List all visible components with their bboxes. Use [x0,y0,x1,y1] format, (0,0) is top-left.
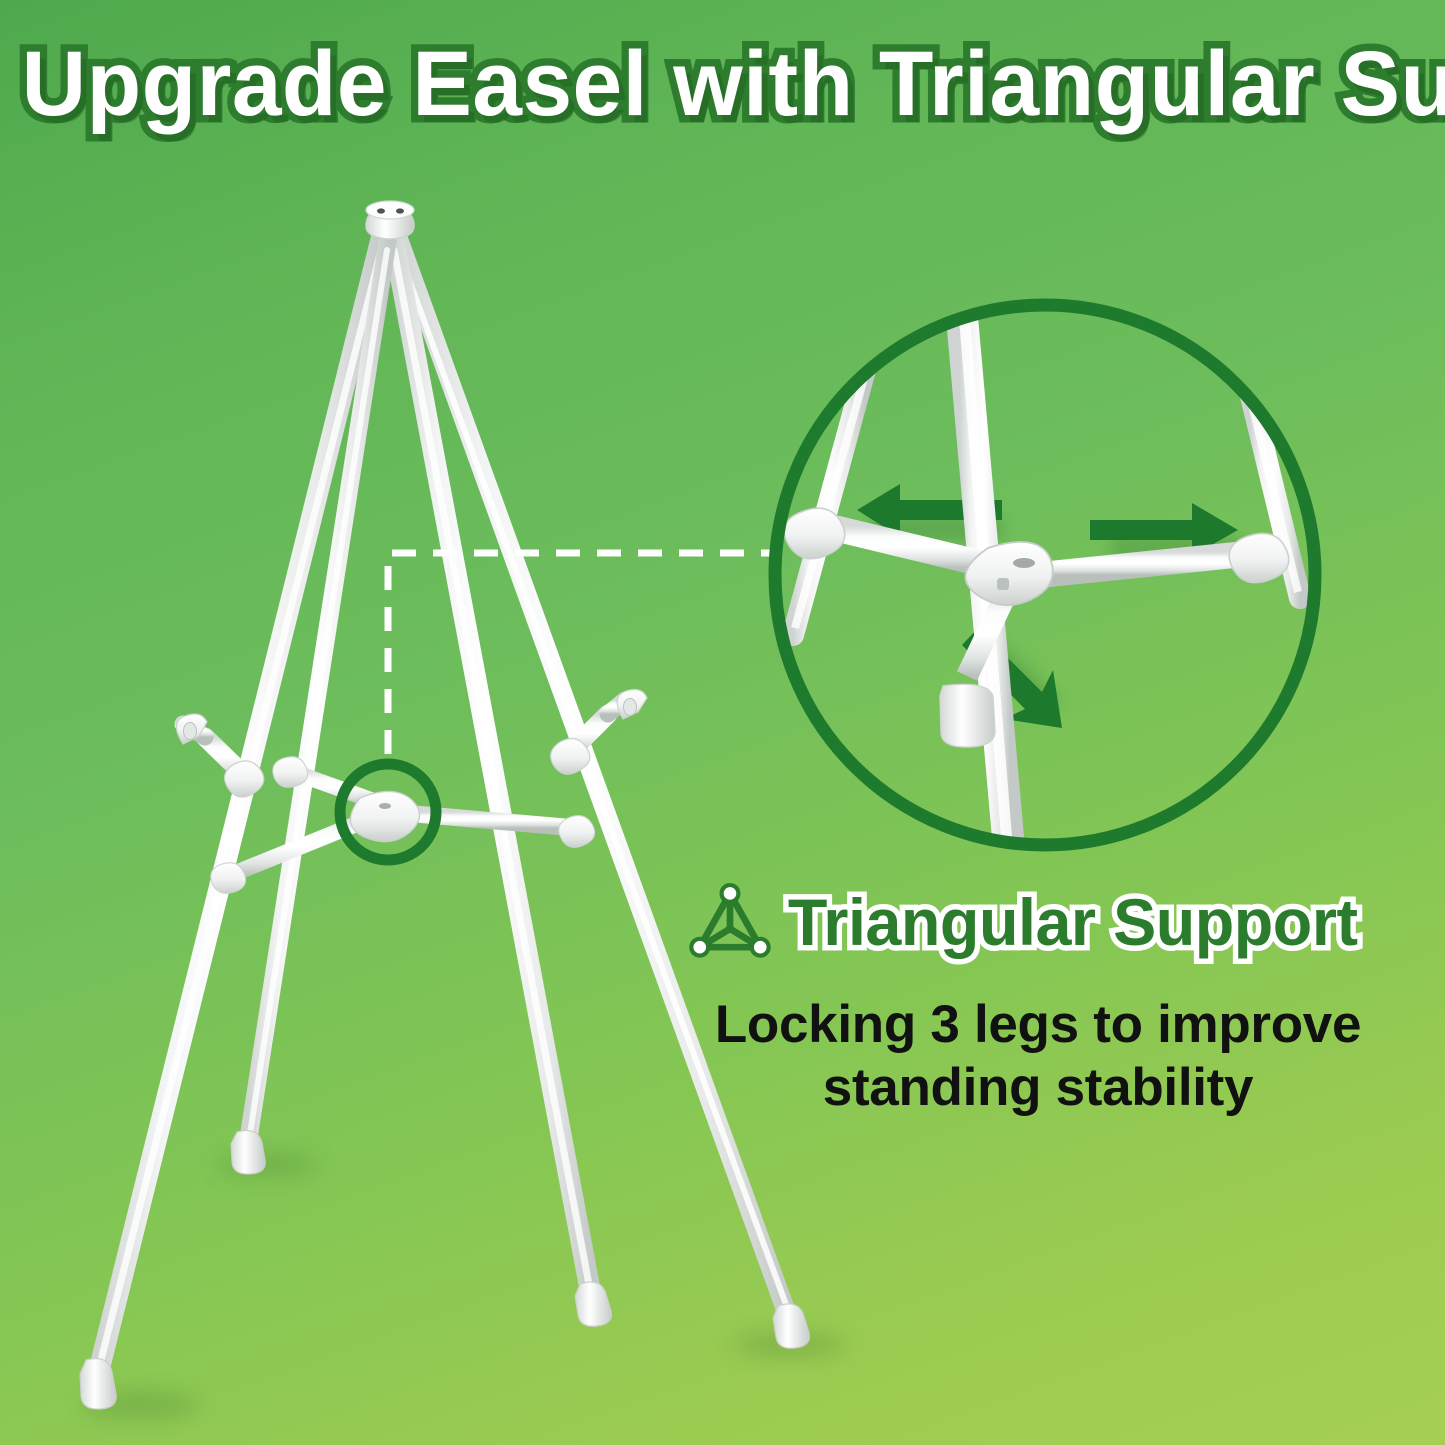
zoom-center-collar [940,684,995,747]
center-hub [350,791,419,841]
rear-leg [396,232,790,1322]
easel-illustration [0,0,1445,1445]
lock-direction-arrows [857,484,1240,728]
bracket-left-collar [224,761,263,797]
brace-left-clamp [211,863,246,894]
main-easel [80,201,848,1419]
feature-description-line-2: standing stability [688,1057,1388,1120]
product-infographic: Upgrade Easel with Triangular Support [0,0,1445,1445]
foot-caps [80,1130,809,1409]
screw-hole-left [377,208,385,213]
ground-shadows [80,1153,848,1419]
apex-cap [366,201,414,239]
feature-title: Triangular Support [788,884,1358,960]
feature-callout: Triangular Support Locking 3 legs to imp… [688,880,1428,1119]
feature-description-line-1: Locking 3 legs to improve [688,994,1388,1057]
tripod-triangle-icon [688,880,772,964]
feature-heading-row: Triangular Support [688,880,1428,964]
zoom-clamp-left [784,508,845,558]
feature-description: Locking 3 legs to improve standing stabi… [688,994,1428,1119]
screw-hole-right [396,208,404,213]
zoom-detail-circle [775,295,1315,860]
brace-right-clamp [559,816,595,848]
diagonal-brace-clamp [273,757,308,788]
zoom-clamp-right [1229,533,1288,582]
